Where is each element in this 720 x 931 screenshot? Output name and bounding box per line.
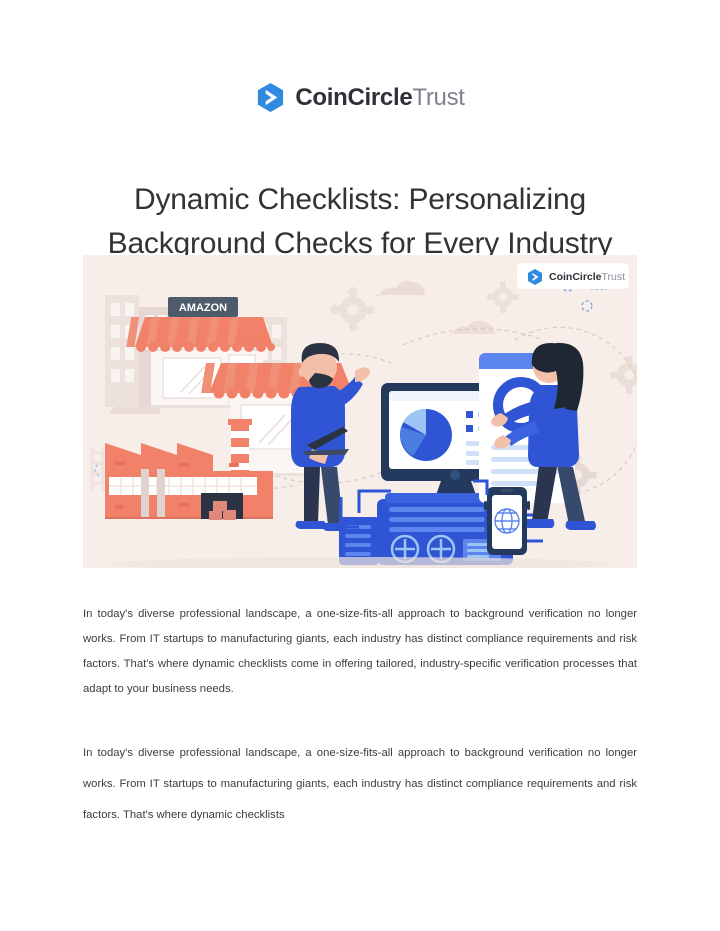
monitor-pie-chart: [400, 409, 452, 461]
globe-icon: [495, 509, 519, 533]
brand-name-bold: CoinCircle: [295, 84, 412, 111]
brand-wordmark: CoinCircleTrust: [295, 86, 464, 110]
hero-illustration: AMAZON: [83, 255, 637, 568]
coincircle-hexagon-chevron-icon: [255, 82, 286, 113]
brand-name-light: Trust: [412, 84, 464, 111]
page-title: Dynamic Checklists: Personalizing Backgr…: [60, 178, 660, 266]
brand-header: CoinCircleTrust: [0, 82, 720, 113]
illustration-watermark: CoinCircleTrust: [517, 263, 629, 289]
watermark-name-bold: CoinCircleTrust: [549, 271, 625, 283]
body-paragraph-1: In today's diverse professional landscap…: [83, 602, 637, 702]
shop-sign-text: AMAZON: [179, 302, 227, 314]
body-paragraph-2: In today's diverse professional landscap…: [83, 738, 637, 831]
article-page: CoinCircleTrust Dynamic Checklists: Pers…: [0, 0, 720, 931]
